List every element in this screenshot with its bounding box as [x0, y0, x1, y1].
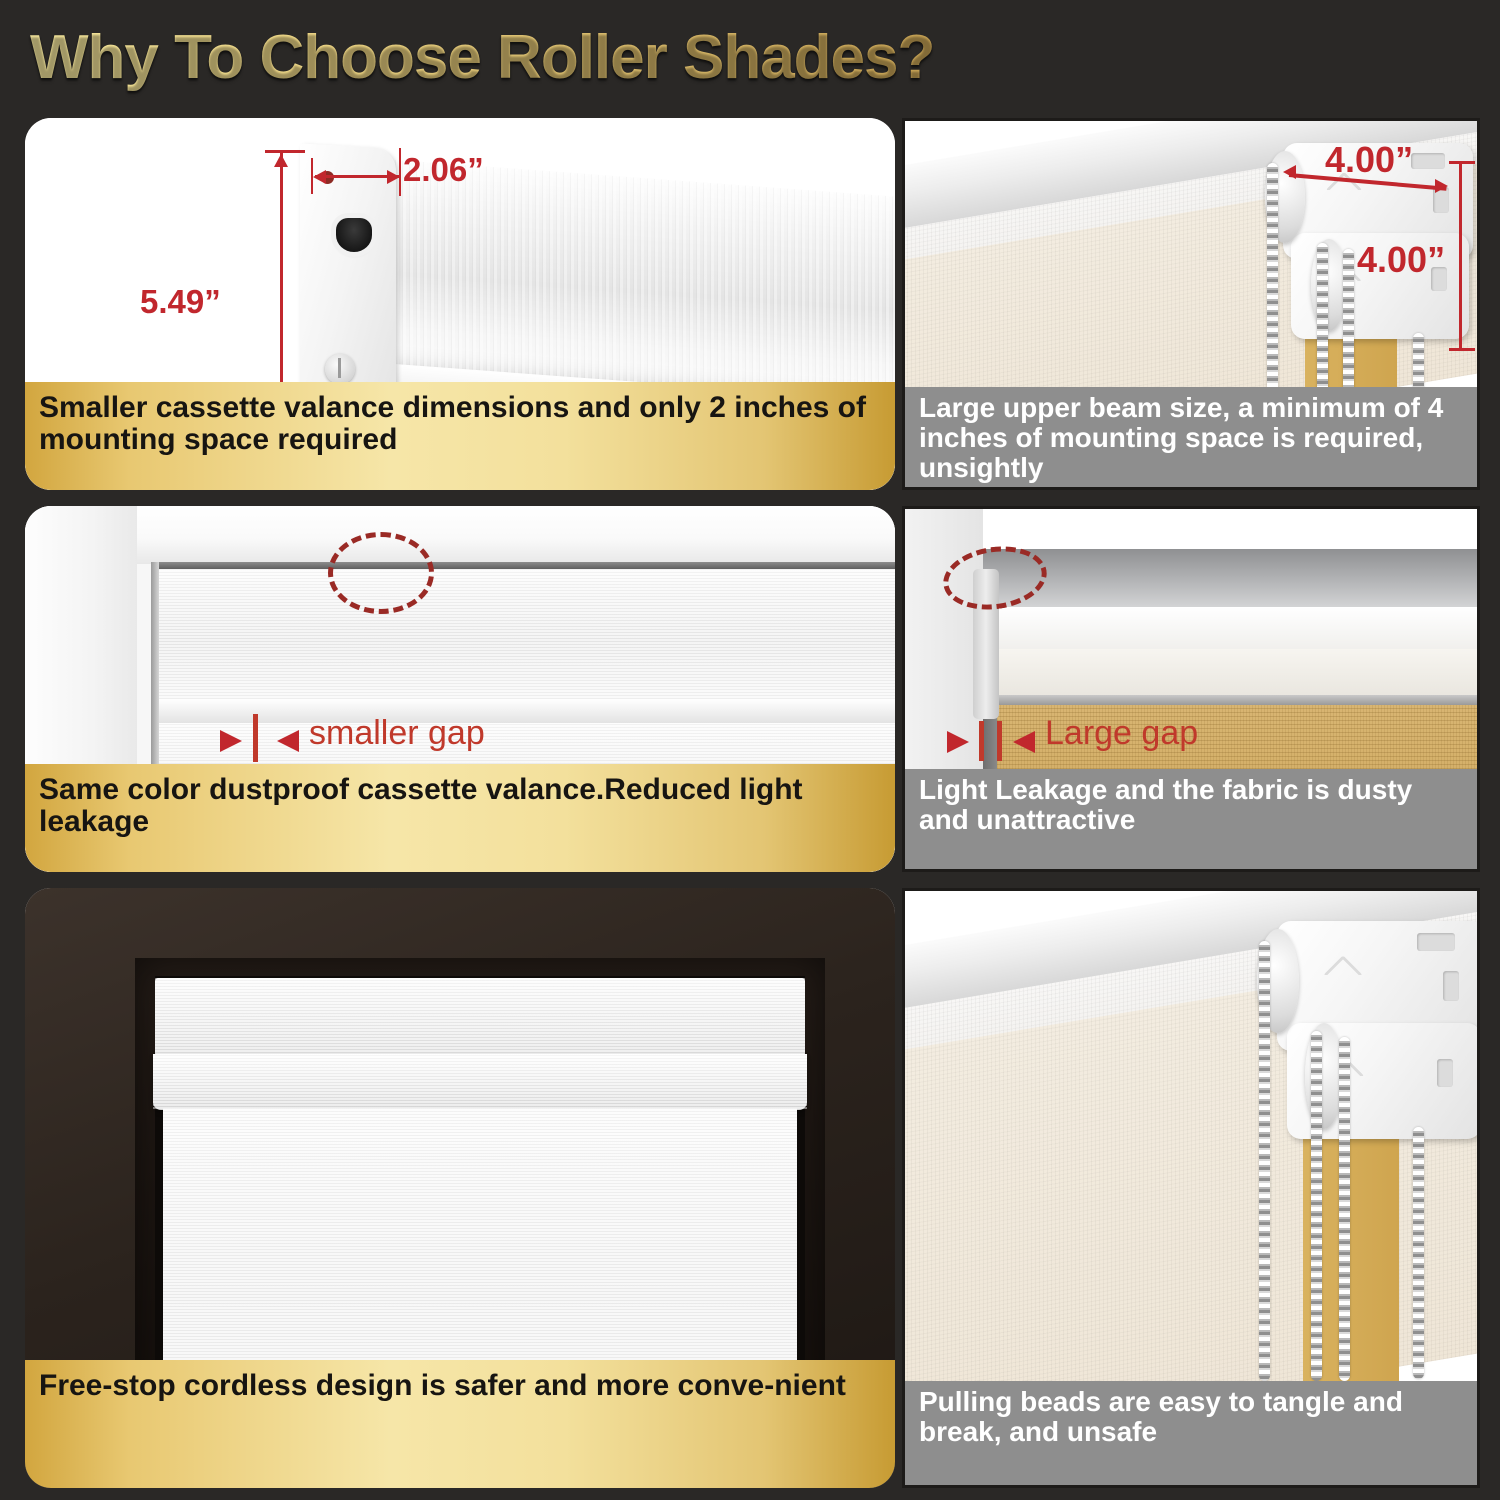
panel-con-large-gap: Large gap Light Leakage and the fabric i… — [902, 506, 1480, 872]
gap-arrow-left — [947, 731, 969, 753]
bracket-slot-shape — [336, 218, 372, 252]
width-dimension-label: 2.06” — [403, 151, 484, 189]
caption-con-beam-size: Large upper beam size, a minimum of 4 in… — [905, 387, 1477, 487]
roller-head-shadow — [983, 549, 1477, 611]
smaller-gap-label: smaller gap — [309, 714, 485, 753]
roller-bottom-bar — [983, 649, 1477, 697]
bead-chain-3 — [1339, 1037, 1350, 1381]
bead-chain-4 — [1413, 1127, 1424, 1379]
caption-pro-smaller-gap: Same color dustproof cassette valance.Re… — [25, 764, 895, 872]
beam-height-line — [1459, 161, 1462, 351]
cassette-top-rail — [151, 562, 895, 569]
gap-indicator-bar-2 — [997, 721, 1002, 761]
width-arrow-right — [387, 170, 400, 184]
panel-con-beads: Pulling beads are easy to tangle and bre… — [902, 888, 1480, 1488]
bead-chain-1 — [1259, 941, 1270, 1381]
beam-width-label: 4.00” — [1325, 139, 1413, 181]
gap-indicator-bar-1 — [979, 721, 984, 761]
cassette-valance-lip — [153, 1054, 807, 1110]
gap-indicator-bar — [253, 714, 258, 762]
window-casing-top — [137, 506, 895, 564]
roller-rail — [983, 695, 1477, 705]
cassette-valance — [155, 978, 805, 1056]
caption-con-beads: Pulling beads are easy to tangle and bre… — [905, 1381, 1477, 1485]
beam-height-tick-top — [1449, 161, 1475, 164]
roller-head-white — [983, 607, 1477, 651]
beam-height-tick-bottom — [1449, 348, 1475, 351]
cassette-band-upper — [157, 569, 895, 699]
beam-width-arrow-right — [1435, 179, 1448, 193]
gap-arrow-left — [220, 730, 242, 752]
height-tick-top — [265, 150, 305, 153]
caption-pro-cordless: Free-stop cordless design is safer and m… — [25, 1360, 895, 1488]
panel-pro-smaller-gap: smaller gap Same color dustproof cassett… — [25, 506, 895, 872]
panel-pro-cassette-size: 2.06” 5.49” Smaller cassette valance dim… — [25, 118, 895, 490]
caption-con-large-gap: Light Leakage and the fabric is dusty an… — [905, 769, 1477, 869]
bracket-screw-shape — [325, 354, 355, 384]
height-dimension-label: 5.49” — [140, 283, 221, 321]
beam-width-arrow-left — [1283, 165, 1296, 179]
gap-arrow-right — [277, 730, 299, 752]
bead-chain-1 — [1267, 163, 1278, 421]
width-arrow-left — [313, 170, 326, 184]
page-title: Why To Choose Roller Shades? — [30, 22, 934, 93]
height-arrow-up — [274, 154, 288, 167]
beam-height-label: 4.00” — [1357, 239, 1445, 281]
infographic-page: Why To Choose Roller Shades? 2.06” — [0, 0, 1500, 1500]
panel-con-beam-size: 4.00” 4.00” Large upper beam size, a min… — [902, 118, 1480, 490]
cassette-band-divider — [157, 699, 895, 723]
panel-pro-cordless: Free-stop cordless design is safer and m… — [25, 888, 895, 1488]
gap-arrow-right — [1013, 731, 1035, 753]
bead-chain-2 — [1311, 1031, 1322, 1381]
large-gap-label: Large gap — [1045, 714, 1198, 753]
caption-pro-cassette-size: Smaller cassette valance dimensions and … — [25, 382, 895, 490]
gap-highlight-circle — [328, 532, 434, 614]
